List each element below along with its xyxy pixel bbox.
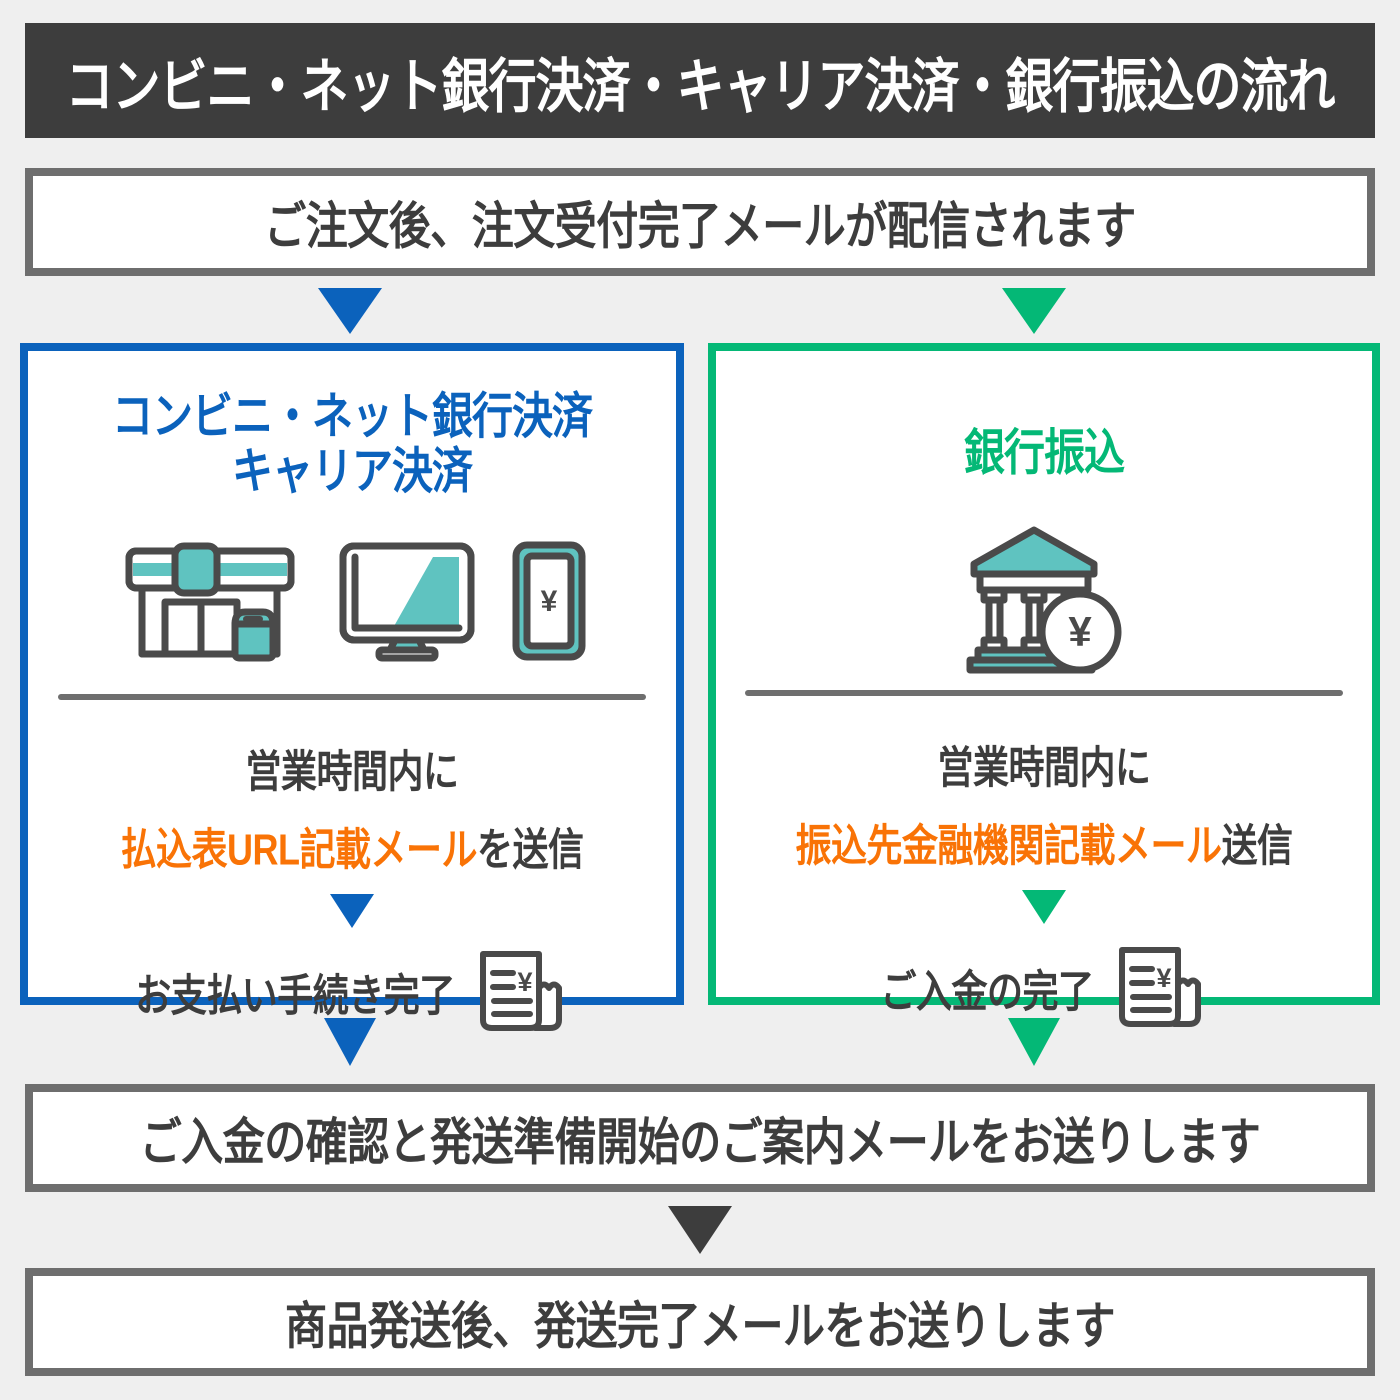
svg-text:¥: ¥: [517, 967, 532, 997]
bank-transfer-body-line1: 営業時間内に: [716, 732, 1372, 795]
convenience-store-icon-row: ¥: [28, 537, 676, 662]
step-shipped: 商品発送後、発送完了メールをお送りします: [25, 1268, 1375, 1376]
panel-convenience-store-heading-line2: キャリア決済: [28, 445, 676, 500]
down-arrow-inner-blue-icon: [330, 894, 374, 928]
receipt-yen-icon: ¥: [473, 946, 569, 1038]
panel-bank-transfer: 銀行振込: [708, 343, 1380, 1005]
convenience-store-body-suffix: を送信: [477, 824, 584, 874]
down-arrow-inner-green-icon: [1022, 890, 1066, 924]
step-order-received-label: ご注文後、注文受付完了メールが配信されます: [264, 185, 1136, 258]
convenience-store-highlight: 払込表URL記載メール: [120, 824, 477, 874]
bank-transfer-final-label: ご入金の完了: [880, 956, 1093, 1019]
panel-convenience-store-heading: コンビニ・ネット銀行決済 キャリア決済: [28, 390, 676, 500]
bank-transfer-icon-row: ¥: [716, 519, 1372, 674]
svg-text:¥: ¥: [1068, 608, 1092, 655]
convenience-store-inner-arrow-wrap: [28, 894, 676, 928]
bank-transfer-highlight: 振込先金融機関記載メール: [795, 820, 1221, 870]
bank-transfer-inner-arrow-wrap: [716, 890, 1372, 924]
panel-bank-transfer-heading: 銀行振込: [716, 426, 1372, 481]
bank-building-yen-icon: ¥: [958, 524, 1130, 674]
step-shipped-label: 商品発送後、発送完了メールをお送りします: [285, 1285, 1115, 1358]
down-arrow-to-bank-transfer-icon: [1002, 288, 1066, 334]
step-payment-confirmed-label: ご入金の確認と発送準備開始のご案内メールをお送りします: [140, 1101, 1261, 1174]
convenience-store-final-label: お支払い手続き完了: [135, 960, 455, 1023]
convenience-store-body-line2: 払込表URL記載メールを送信: [28, 814, 676, 877]
payment-flow-diagram: コンビニ・ネット銀行決済・キャリア決済・銀行振込の流れ ご注文後、注文受付完了メ…: [0, 0, 1400, 1400]
panel-bank-transfer-heading-line1: 銀行振込: [716, 426, 1372, 481]
panel-convenience-store-divider: [58, 694, 646, 700]
desktop-monitor-icon: [337, 540, 477, 662]
diagram-title-bar: コンビニ・ネット銀行決済・キャリア決済・銀行振込の流れ: [25, 23, 1375, 138]
svg-text:¥: ¥: [541, 585, 558, 618]
down-arrow-to-shipped-icon: [668, 1206, 732, 1254]
svg-text:¥: ¥: [1156, 963, 1171, 993]
step-payment-confirmed: ご入金の確認と発送準備開始のご案内メールをお送りします: [25, 1084, 1375, 1192]
down-arrow-from-bank-transfer-icon: [1008, 1018, 1060, 1066]
bank-transfer-body-line2: 振込先金融機関記載メール送信: [716, 810, 1372, 873]
panel-convenience-store: コンビニ・ネット銀行決済 キャリア決済: [20, 343, 684, 1005]
down-arrow-from-convenience-store-icon: [324, 1018, 376, 1066]
storefront-icon: [117, 542, 303, 662]
panel-convenience-store-heading-line1: コンビニ・ネット銀行決済: [28, 390, 676, 445]
page-title: コンビニ・ネット銀行決済・キャリア決済・銀行振込の流れ: [65, 38, 1334, 123]
smartphone-yen-icon: ¥: [511, 540, 587, 662]
convenience-store-body-line1: 営業時間内に: [28, 736, 676, 799]
receipt-yen-icon: ¥: [1112, 942, 1208, 1034]
down-arrow-to-convenience-store-icon: [318, 288, 382, 334]
step-order-received: ご注文後、注文受付完了メールが配信されます: [25, 168, 1375, 276]
panel-bank-transfer-divider: [745, 690, 1343, 696]
bank-transfer-body-suffix: 送信: [1222, 820, 1293, 870]
